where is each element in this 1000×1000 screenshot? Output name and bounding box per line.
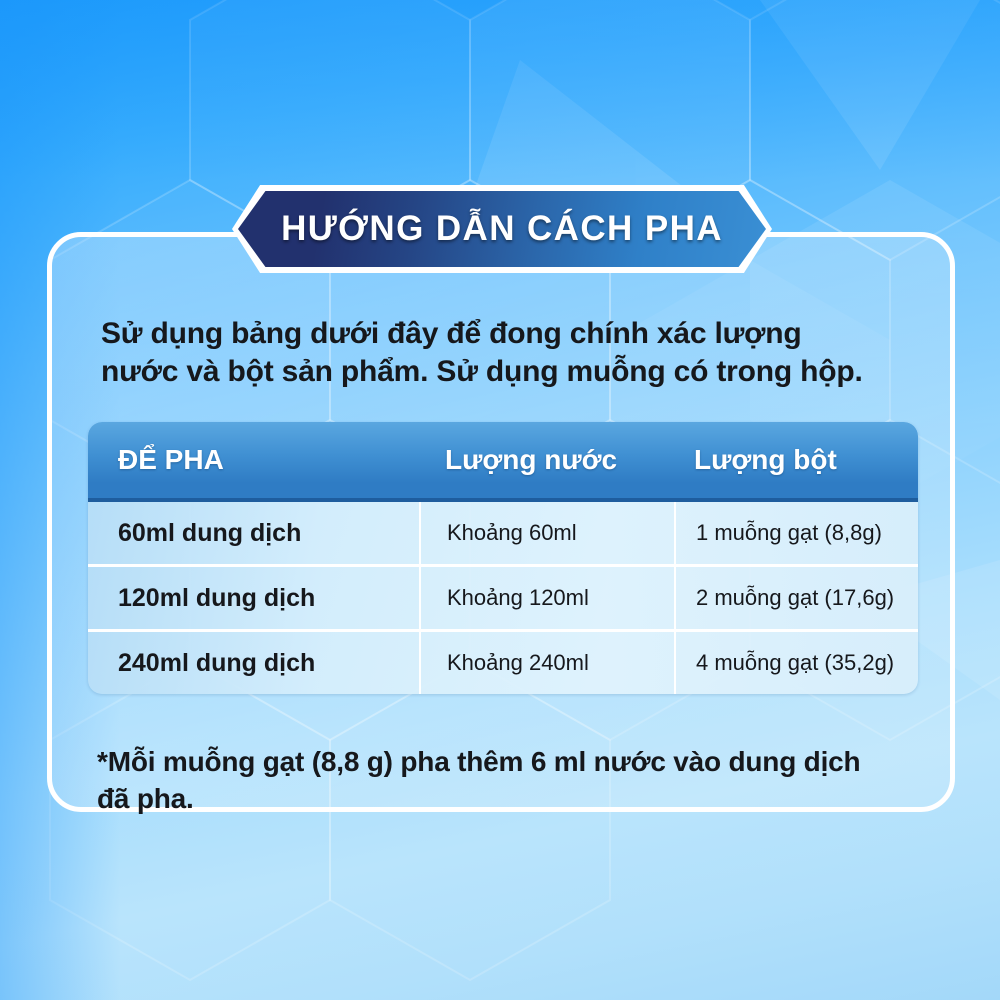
page-title: HƯỚNG DẪN CÁCH PHA (281, 209, 723, 249)
cell-powder-text: 4 muỗng gạt (35,2g) (696, 650, 894, 676)
intro-paragraph: Sử dụng bảng dưới đây để đong chính xác … (101, 315, 871, 391)
cell-amount: 240ml dung dịch (88, 649, 419, 678)
top-edge-glow (0, 0, 1000, 180)
table-row: 240ml dung dịch Khoảng 240ml 4 muỗng gạt… (88, 632, 918, 694)
footnote-text: *Mỗi muỗng gạt (8,8 g) pha thêm 6 ml nướ… (97, 743, 887, 817)
table-row: 60ml dung dịch Khoảng 60ml 1 muỗng gạt (… (88, 502, 918, 567)
cell-water-text: Khoảng 60ml (447, 520, 577, 546)
cell-water-text: Khoảng 240ml (447, 650, 589, 676)
cell-powder: 4 muỗng gạt (35,2g) (674, 632, 918, 694)
cell-water: Khoảng 60ml (419, 502, 674, 564)
banner-hexagon: HƯỚNG DẪN CÁCH PHA (238, 191, 766, 267)
column-header-water: Lượng nước (419, 444, 674, 476)
cell-powder-text: 2 muỗng gạt (17,6g) (696, 585, 894, 611)
cell-powder: 2 muỗng gạt (17,6g) (674, 567, 918, 629)
mixing-instructions-table: ĐỂ PHA Lượng nước Lượng bột 60ml dung dị… (88, 422, 918, 694)
table-row: 120ml dung dịch Khoảng 120ml 2 muỗng gạt… (88, 567, 918, 632)
cell-powder: 1 muỗng gạt (8,8g) (674, 502, 918, 564)
cell-powder-text: 1 muỗng gạt (8,8g) (696, 520, 882, 546)
column-header-amount: ĐỂ PHA (88, 444, 419, 476)
cell-water-text: Khoảng 120ml (447, 585, 589, 611)
cell-water: Khoảng 240ml (419, 632, 674, 694)
poster-canvas: HƯỚNG DẪN CÁCH PHA Sử dụng bảng dưới đây… (0, 0, 1000, 1000)
cell-water: Khoảng 120ml (419, 567, 674, 629)
cell-amount: 120ml dung dịch (88, 584, 419, 613)
table-header-row: ĐỂ PHA Lượng nước Lượng bột (88, 422, 918, 502)
column-header-powder: Lượng bột (674, 444, 918, 476)
cell-amount: 60ml dung dịch (88, 519, 419, 548)
